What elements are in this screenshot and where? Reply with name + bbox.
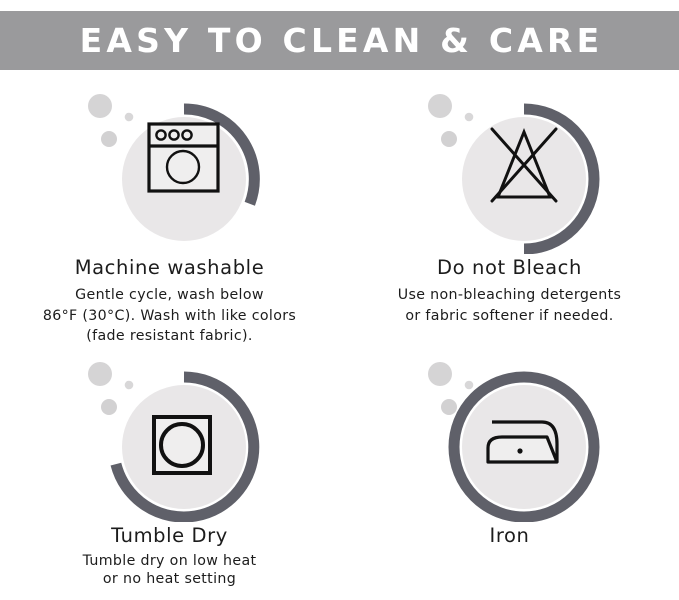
iron-icon: [420, 352, 600, 522]
page-title: EASY TO CLEAN & CARE: [76, 24, 604, 57]
care-item-machine-washable: Machine washable Gentle cycle, wash belo…: [0, 70, 339, 332]
care-item-tumble-dry: Tumble Dry Tumble dry on low heat or no …: [0, 338, 339, 600]
bubble-large-icon: [428, 94, 452, 118]
care-description: Gentle cycle, wash below 86°F (30°C). Wa…: [0, 285, 339, 345]
care-text-iron: Iron: [340, 524, 679, 553]
care-instructions-grid: Machine washable Gentle cycle, wash belo…: [0, 70, 679, 594]
care-text-do-not-bleach: Do not Bleach Use non-bleaching detergen…: [340, 256, 679, 326]
care-description: Use non-bleaching detergents or fabric s…: [340, 285, 679, 325]
care-description: Tumble dry on low heat or no heat settin…: [0, 553, 339, 588]
care-title: Tumble Dry: [0, 524, 339, 548]
badge-do-not-bleach: [420, 84, 600, 254]
bubble-medium-icon: [101, 399, 117, 415]
bubble-large-icon: [428, 362, 452, 386]
care-item-iron: Iron: [340, 338, 679, 600]
badge-machine-washable: [80, 84, 260, 254]
care-text-machine-washable: Machine washable Gentle cycle, wash belo…: [0, 256, 339, 346]
tumble-dry-icon: [80, 352, 260, 522]
washing-machine-glyph: [149, 124, 218, 191]
care-item-do-not-bleach: Do not Bleach Use non-bleaching detergen…: [340, 70, 679, 332]
bubble-medium-icon: [441, 399, 457, 415]
bubble-small-icon: [464, 113, 473, 122]
care-title: Do not Bleach: [340, 256, 679, 280]
care-text-tumble-dry: Tumble Dry Tumble dry on low heat or no …: [0, 524, 339, 588]
bubble-small-icon: [464, 381, 473, 390]
bubble-large-icon: [88, 362, 112, 386]
care-description-line: or no heat setting: [0, 571, 339, 588]
care-title: Machine washable: [0, 256, 339, 280]
care-description-line: 86°F (30°C). Wash with like colors: [0, 306, 339, 326]
tumble-dry-glyph: [154, 417, 210, 473]
care-description-line: Tumble dry on low heat: [0, 553, 339, 570]
care-description-line: Use non-bleaching detergents: [340, 285, 679, 305]
bubble-medium-icon: [441, 131, 457, 147]
badge-iron: [420, 352, 600, 522]
bubble-small-icon: [124, 113, 133, 122]
bubble-small-icon: [124, 381, 133, 390]
care-description-line: or fabric softener if needed.: [340, 306, 679, 326]
do-not-bleach-icon: [420, 84, 600, 254]
bubble-large-icon: [88, 94, 112, 118]
badge-tumble-dry: [80, 352, 260, 522]
care-title: Iron: [340, 524, 679, 548]
bubble-medium-icon: [101, 131, 117, 147]
care-description-line: Gentle cycle, wash below: [0, 285, 339, 305]
header-banner: EASY TO CLEAN & CARE: [0, 11, 679, 70]
washing-machine-icon: [80, 84, 260, 254]
